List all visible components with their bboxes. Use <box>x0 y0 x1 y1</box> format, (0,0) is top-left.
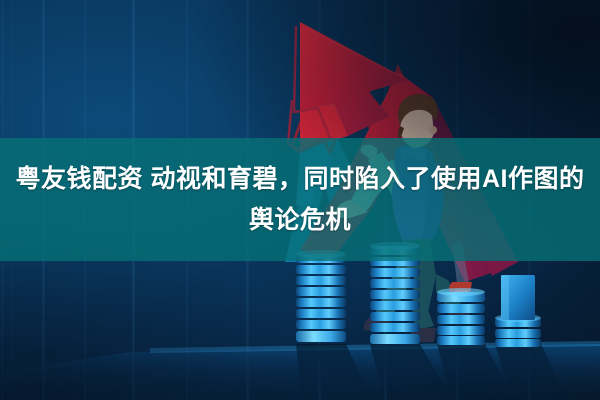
coin-stack-3 <box>437 288 485 345</box>
page-title: 粤友钱配资 动视和育碧，同时陷入了使用AI作图的舆论危机 <box>10 159 590 241</box>
coin-stack-1 <box>296 250 346 342</box>
vault-card-block <box>501 275 535 320</box>
cover-image-canvas: 粤友钱配资 动视和育碧，同时陷入了使用AI作图的舆论危机 <box>0 0 600 400</box>
caption-overlay-band: 粤友钱配资 动视和育碧，同时陷入了使用AI作图的舆论危机 <box>0 138 600 261</box>
